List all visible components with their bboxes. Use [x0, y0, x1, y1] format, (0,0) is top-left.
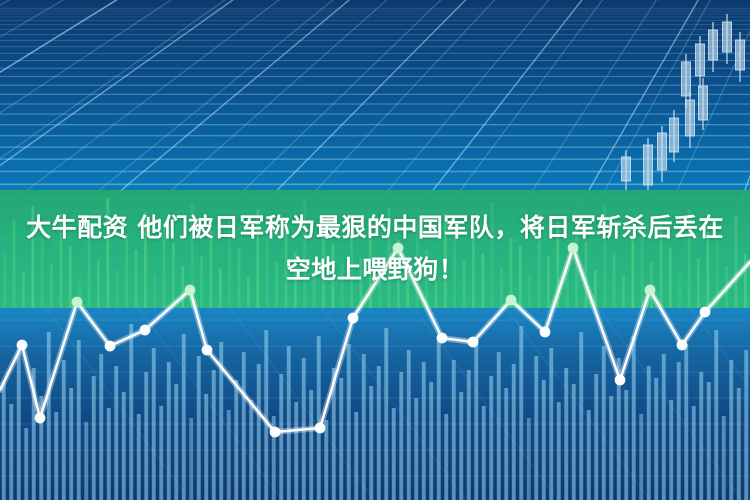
- headline-line-2: 空地上喂野狗！: [286, 249, 465, 291]
- headline-text: 大牛配资 他们被日军称为最狠的中国军队，将日军斩杀后丢在 空地上喂野狗！: [0, 190, 750, 308]
- banner-image: 大牛配资 他们被日军称为最狠的中国军队，将日军斩杀后丢在 空地上喂野狗！: [0, 0, 750, 500]
- headline-line-1: 大牛配资 他们被日军称为最狠的中国军队，将日军斩杀后丢在: [26, 207, 724, 249]
